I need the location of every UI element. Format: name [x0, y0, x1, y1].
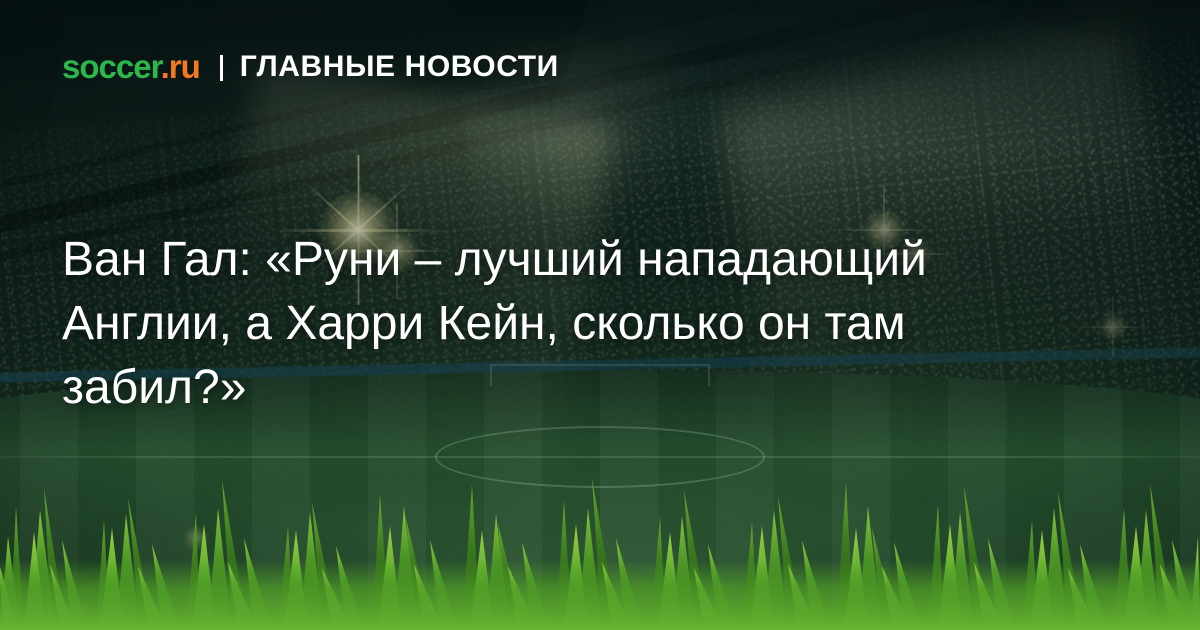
logo-text-suffix: .ru [161, 48, 200, 85]
header-separator [220, 55, 223, 81]
article-headline: Ван Гал: «Руни – лучший нападающий Англи… [62, 228, 1092, 420]
logo-text-primary: soccer [62, 48, 161, 85]
share-card: soccer.ru ГЛАВНЫЕ НОВОСТИ Ван Гал: «Руни… [0, 0, 1200, 630]
card-header: soccer.ru ГЛАВНЫЕ НОВОСТИ [62, 50, 559, 83]
section-kicker: ГЛАВНЫЕ НОВОСТИ [240, 52, 559, 82]
soccer-ru-logo[interactable]: soccer.ru [62, 50, 200, 83]
